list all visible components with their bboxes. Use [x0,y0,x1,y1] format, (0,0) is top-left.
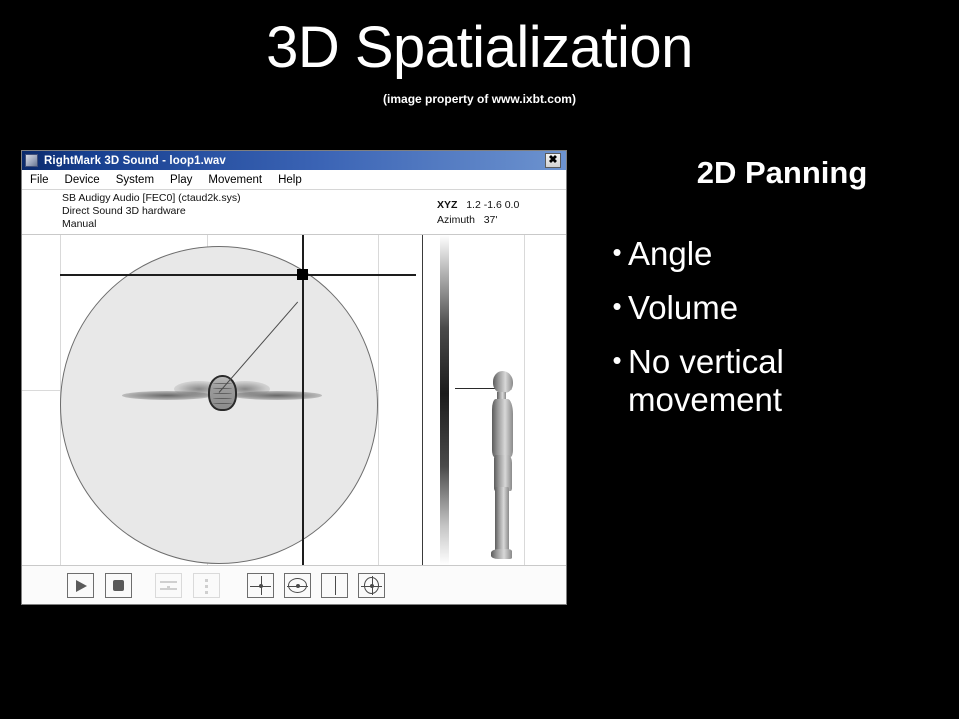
side-figure-head [493,371,513,393]
marker-crosshair-vertical [302,235,304,565]
menu-item-device[interactable]: Device [65,174,100,186]
close-icon[interactable]: ✖ [545,153,561,168]
coordinate-readout: XYZ 1.2 -1.6 0.0 Azimuth 37' [437,198,519,228]
control-mode: Manual [62,218,241,231]
azimuth-row: Azimuth 37' [437,213,519,228]
grid-line-vertical [378,235,379,565]
list-item: • No vertical movement [600,343,950,419]
bullet-icon: • [606,289,628,323]
section-heading: 2D Panning [600,155,950,191]
play-button[interactable] [67,573,94,598]
side-figure-feet [491,549,512,559]
vertical-circle-move-button[interactable] [358,573,385,598]
xyz-value: 1.2 -1.6 0.0 [466,199,519,211]
menu-item-help[interactable]: Help [278,174,302,186]
stop-button[interactable] [105,573,132,598]
xyz-row: XYZ 1.2 -1.6 0.0 [437,198,519,213]
side-view-figure [488,371,516,561]
menu-item-play[interactable]: Play [170,174,192,186]
list-item: • Volume [600,289,950,327]
xyz-label: XYZ [437,199,457,211]
grid-line-vertical [524,235,525,565]
bullet-icon: • [606,235,628,269]
horizontal-circle-move-button[interactable] [284,573,311,598]
bullet-label: No vertical movement [628,343,784,419]
device-name: SB Audigy Audio [FEC0] (ctaud2k.sys) [62,192,241,205]
top-view-figure [122,363,322,423]
panel-divider [422,235,423,565]
horizontal-move-icon [160,578,177,593]
bullet-panel: 2D Panning • Angle • Volume • No vertica… [600,155,950,435]
menu-item-file[interactable]: File [30,174,49,186]
sound-source-marker[interactable] [297,269,308,280]
transport-toolbar [22,565,566,605]
menu-bar: File Device System Play Movement Help [22,170,566,190]
menu-item-movement[interactable]: Movement [208,174,262,186]
menu-item-system[interactable]: System [116,174,154,186]
window-title: RightMark 3D Sound - loop1.wav [44,155,545,167]
application-icon [25,154,38,167]
side-figure-hips [494,455,512,491]
bullet-icon: • [606,343,628,377]
spatialization-viewport[interactable] [22,235,566,565]
window-title-bar: RightMark 3D Sound - loop1.wav ✖ [22,151,566,170]
side-figure-torso [492,399,513,457]
vertical-move-icon [198,578,215,593]
azimuth-label: Azimuth [437,214,475,226]
play-icon [76,580,87,592]
list-item: • Angle [600,235,950,273]
azimuth-value: 37' [484,214,498,226]
device-info: SB Audigy Audio [FEC0] (ctaud2k.sys) Dir… [62,192,241,231]
marker-crosshair-horizontal [60,274,416,276]
rightmark-3d-sound-window: RightMark 3D Sound - loop1.wav ✖ File De… [21,150,567,605]
page-title: 3D Spatialization [0,18,959,79]
vertical-line-move-button[interactable] [321,573,348,598]
page-subtitle: (image property of www.ixbt.com) [0,92,959,106]
elevation-gradient-strip [440,235,449,565]
device-mode: Direct Sound 3D hardware [62,205,241,218]
bullet-label: Volume [628,289,738,327]
vertical-move-button [193,573,220,598]
status-info-bar: SB Audigy Audio [FEC0] (ctaud2k.sys) Dir… [22,190,566,235]
figure-head [208,375,237,411]
free-move-button[interactable] [247,573,274,598]
bullet-label: Angle [628,235,712,273]
horizontal-move-button [155,573,182,598]
side-figure-legs [495,487,509,553]
stop-icon [113,580,124,591]
